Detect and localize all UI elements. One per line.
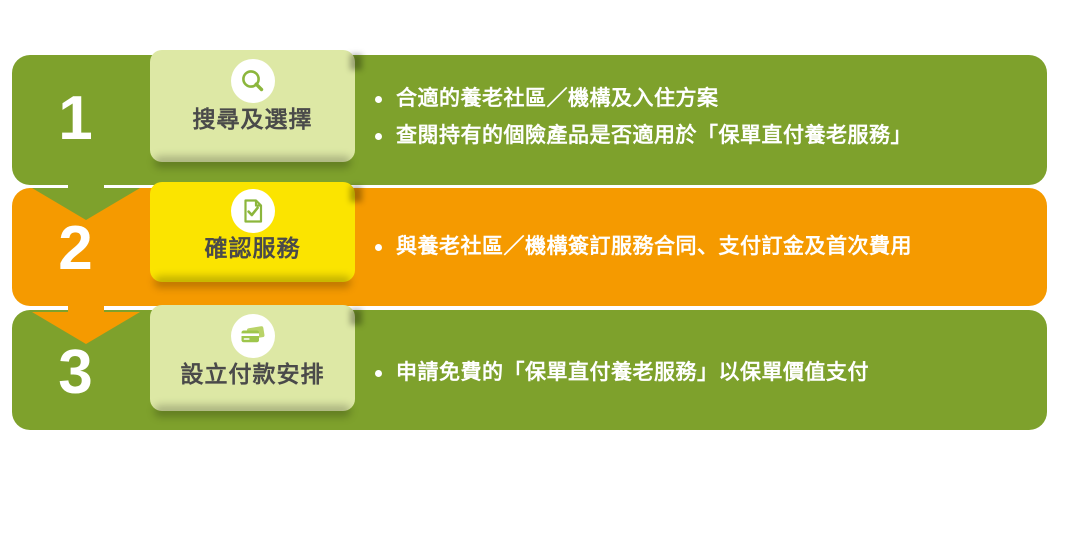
bullet-dot-icon	[375, 133, 382, 140]
arrow-step1-to-step2-icon	[32, 168, 140, 220]
step-number-2: 2	[0, 218, 150, 280]
step-label-text-2: 確認服務	[150, 236, 355, 261]
step-number-1: 1	[0, 88, 150, 150]
arrow-step2-to-step3-icon	[32, 292, 140, 344]
credit-card-icon	[231, 314, 275, 358]
process-flow-diagram: 1 2 3 搜尋及選擇 確認服務	[0, 0, 1080, 550]
step-bullets-3: 申請免費的「保單直付養老服務」以保單價值支付	[375, 358, 1050, 395]
bullet-text: 合適的養老社區／機構及入住方案	[396, 84, 719, 114]
step-bullets-1: 合適的養老社區／機構及入住方案 查閱持有的個險產品是否適用於「保單直付養老服務」	[375, 84, 1050, 159]
step-label-card-3[interactable]: 設立付款安排	[150, 305, 355, 411]
bullet-item: 與養老社區／機構簽訂服務合同、支付訂金及首次費用	[375, 232, 1050, 262]
step-label-card-1[interactable]: 搜尋及選擇	[150, 50, 355, 162]
step-bullets-2: 與養老社區／機構簽訂服務合同、支付訂金及首次費用	[375, 232, 1050, 269]
step-label-card-2[interactable]: 確認服務	[150, 182, 355, 282]
magnifier-icon	[231, 59, 275, 103]
document-check-icon	[231, 189, 275, 233]
bullet-text: 與養老社區／機構簽訂服務合同、支付訂金及首次費用	[396, 232, 912, 262]
bullet-dot-icon	[375, 244, 382, 251]
bullet-item: 查閱持有的個險產品是否適用於「保單直付養老服務」	[375, 121, 1050, 151]
bullet-text: 查閱持有的個險產品是否適用於「保單直付養老服務」	[396, 121, 912, 151]
bullet-dot-icon	[375, 96, 382, 103]
bullet-dot-icon	[375, 370, 382, 377]
bullet-item: 申請免費的「保單直付養老服務」以保單價值支付	[375, 358, 1050, 388]
step-label-text-3: 設立付款安排	[150, 362, 355, 387]
step-label-text-1: 搜尋及選擇	[150, 107, 355, 132]
bullet-item: 合適的養老社區／機構及入住方案	[375, 84, 1050, 114]
bullet-text: 申請免費的「保單直付養老服務」以保單價值支付	[396, 358, 869, 388]
step-number-3: 3	[0, 342, 150, 404]
